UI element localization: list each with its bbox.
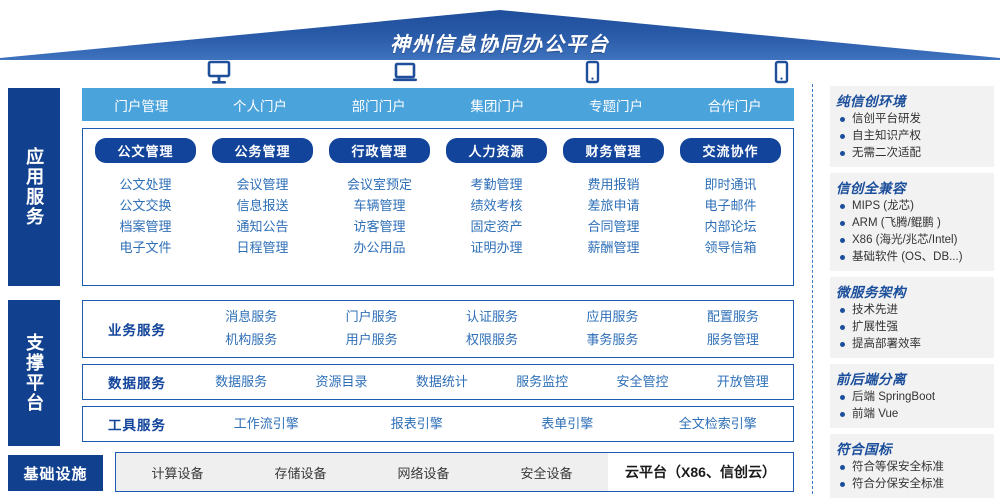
app-service-item-2-2[interactable]: 访客管理 <box>353 220 405 233</box>
support-item-0-1-0[interactable]: 门户服务 <box>311 306 431 329</box>
app-service-title-5[interactable]: 交流协作 <box>680 138 781 163</box>
feature-item-2-0: 技术先进 <box>836 302 988 319</box>
bullet-icon <box>840 238 845 243</box>
feature-item-2-1: 扩展性强 <box>836 319 988 336</box>
feature-section-0: 纯信创环境信创平台研发自主知识产权无需二次适配 <box>830 86 994 167</box>
portal-item-0[interactable]: 门户管理 <box>82 95 201 115</box>
support-row-items-2: 工作流引擎报表引擎表单引擎全文检索引擎 <box>191 413 793 436</box>
feature-item-1-2: X86 (海光/兆芯/Intel) <box>836 232 988 249</box>
architecture-diagram: 神州信息协同办公平台 <box>0 0 1000 500</box>
app-service-title-1[interactable]: 公务管理 <box>212 138 313 163</box>
phone-icon-2 <box>766 60 796 88</box>
app-service-item-1-3[interactable]: 日程管理 <box>236 241 288 254</box>
feature-item-label-1-0: MIPS (龙芯) <box>852 198 914 215</box>
bullet-icon <box>840 482 845 487</box>
app-service-item-2-0[interactable]: 会议室预定 <box>347 178 412 191</box>
feature-title-3: 前后端分离 <box>836 368 988 388</box>
support-cell-2-2: 表单引擎 <box>492 413 643 436</box>
app-service-column-3: 人力资源考勤管理绩效考核固定资产证明办理 <box>438 138 555 279</box>
feature-item-label-3-0: 后端 SpringBoot <box>852 389 935 406</box>
support-item-1-4-0[interactable]: 安全管控 <box>592 371 692 394</box>
bullet-icon <box>840 151 845 156</box>
portal-bar: 门户管理个人门户部门门户集团门户专题门户合作门户 <box>82 88 794 121</box>
bullet-icon <box>840 134 845 139</box>
rail-support-platform-label: 支撑平台 <box>22 333 46 413</box>
feature-section-4: 符合国标符合等保安全标准符合分保安全标准 <box>830 434 994 498</box>
support-cell-1-3: 服务监控 <box>492 371 592 394</box>
support-cell-1-4: 安全管控 <box>592 371 692 394</box>
feature-title-4: 符合国标 <box>836 438 988 458</box>
section-divider <box>812 84 813 494</box>
support-row-tools: 工具服务工作流引擎报表引擎表单引擎全文检索引擎 <box>82 406 794 442</box>
app-service-item-0-3[interactable]: 电子文件 <box>119 241 171 254</box>
feature-item-4-0: 符合等保安全标准 <box>836 459 988 476</box>
bullet-icon <box>840 465 845 470</box>
app-service-item-2-1[interactable]: 车辆管理 <box>353 199 405 212</box>
feature-item-2-2: 提高部署效率 <box>836 336 988 353</box>
feature-item-1-3: 基础软件 (OS、DB...) <box>836 249 988 266</box>
feature-item-label-0-1: 自主知识产权 <box>852 128 921 145</box>
app-service-item-3-1[interactable]: 绩效考核 <box>470 199 522 212</box>
portal-item-3[interactable]: 集团门户 <box>438 95 557 115</box>
app-service-item-0-1[interactable]: 公文交换 <box>119 199 171 212</box>
feature-item-label-1-1: ARM (飞腾/鲲鹏 ) <box>852 215 941 232</box>
feature-section-2: 微服务架构技术先进扩展性强提高部署效率 <box>830 277 994 358</box>
support-item-0-0-0[interactable]: 消息服务 <box>191 306 311 329</box>
app-service-column-5: 交流协作即时通讯电子邮件内部论坛领导信箱 <box>672 138 789 279</box>
feature-section-3: 前后端分离后端 SpringBoot前端 Vue <box>830 364 994 428</box>
app-service-title-0[interactable]: 公文管理 <box>95 138 196 163</box>
support-item-1-3-0[interactable]: 服务监控 <box>492 371 592 394</box>
app-service-title-2[interactable]: 行政管理 <box>329 138 430 163</box>
support-item-0-2-0[interactable]: 认证服务 <box>432 306 552 329</box>
support-cell-1-1: 资源目录 <box>291 371 391 394</box>
support-item-2-1-0[interactable]: 报表引擎 <box>342 413 493 436</box>
feature-item-1-1: ARM (飞腾/鲲鹏 ) <box>836 215 988 232</box>
bullet-icon <box>840 117 845 122</box>
support-item-0-4-0[interactable]: 配置服务 <box>673 306 793 329</box>
feature-item-label-2-1: 扩展性强 <box>852 319 898 336</box>
feature-title-0: 纯信创环境 <box>836 90 988 110</box>
application-services-box: 公文管理公文处理公文交换档案管理电子文件公务管理会议管理信息报送通知公告日程管理… <box>82 128 794 286</box>
rail-application-services-label: 应用服务 <box>22 147 46 227</box>
support-item-1-1-0[interactable]: 资源目录 <box>291 371 391 394</box>
support-item-0-4-1[interactable]: 服务管理 <box>673 329 793 352</box>
support-cell-0-4: 配置服务服务管理 <box>673 306 793 352</box>
support-cell-0-2: 认证服务权限服务 <box>432 306 552 352</box>
app-service-item-5-0[interactable]: 即时通讯 <box>704 178 756 191</box>
bullet-icon <box>840 308 845 313</box>
app-service-item-4-3[interactable]: 薪酬管理 <box>587 241 639 254</box>
portal-item-2[interactable]: 部门门户 <box>319 95 438 115</box>
support-item-0-3-0[interactable]: 应用服务 <box>552 306 672 329</box>
support-item-1-0-0[interactable]: 数据服务 <box>191 371 291 394</box>
portal-item-1[interactable]: 个人门户 <box>201 95 320 115</box>
support-cell-0-3: 应用服务事务服务 <box>552 306 672 352</box>
feature-item-0-1: 自主知识产权 <box>836 128 988 145</box>
app-service-item-4-1[interactable]: 差旅申请 <box>587 199 639 212</box>
feature-item-label-2-2: 提高部署效率 <box>852 336 921 353</box>
platform-title: 神州信息协同办公平台 <box>0 28 1000 57</box>
support-cell-1-0: 数据服务 <box>191 371 291 394</box>
feature-item-label-0-0: 信创平台研发 <box>852 111 921 128</box>
app-service-item-1-1[interactable]: 信息报送 <box>236 199 288 212</box>
app-service-item-3-2[interactable]: 固定资产 <box>470 220 522 233</box>
feature-panel: 纯信创环境信创平台研发自主知识产权无需二次适配信创全兼容MIPS (龙芯)ARM… <box>830 86 994 500</box>
support-cell-1-2: 数据统计 <box>392 371 492 394</box>
app-service-column-4: 财务管理费用报销差旅申请合同管理薪酬管理 <box>555 138 672 279</box>
title-banner: 神州信息协同办公平台 <box>0 8 1000 60</box>
support-item-0-3-1[interactable]: 事务服务 <box>552 329 672 352</box>
rail-support-platform: 支撑平台 <box>8 300 60 446</box>
support-cell-2-3: 全文检索引擎 <box>643 413 794 436</box>
app-service-item-5-2[interactable]: 内部论坛 <box>704 220 756 233</box>
device-icon-row <box>0 60 1000 88</box>
feature-title-1: 信创全兼容 <box>836 177 988 197</box>
app-service-title-4[interactable]: 财务管理 <box>563 138 664 163</box>
infrastructure-item-0[interactable]: 计算设备 <box>116 463 239 482</box>
support-row-business: 业务服务消息服务机构服务门户服务用户服务认证服务权限服务应用服务事务服务配置服务… <box>82 300 794 358</box>
support-item-0-1-1[interactable]: 用户服务 <box>311 329 431 352</box>
app-service-item-4-0[interactable]: 费用报销 <box>587 178 639 191</box>
support-row-data: 数据服务数据服务资源目录数据统计服务监控安全管控开放管理 <box>82 364 794 400</box>
support-row-label-0: 业务服务 <box>83 319 191 339</box>
infrastructure-item-3[interactable]: 安全设备 <box>485 463 608 482</box>
bullet-icon <box>840 325 845 330</box>
support-cell-2-1: 报表引擎 <box>342 413 493 436</box>
rail-application-services: 应用服务 <box>8 88 60 286</box>
infrastructure-item-2[interactable]: 网络设备 <box>362 463 485 482</box>
feature-item-0-0: 信创平台研发 <box>836 111 988 128</box>
support-row-items-1: 数据服务资源目录数据统计服务监控安全管控开放管理 <box>191 371 793 394</box>
infrastructure-device-group: 计算设备存储设备网络设备安全设备 <box>116 453 608 491</box>
app-service-column-2: 行政管理会议室预定车辆管理访客管理办公用品 <box>321 138 438 279</box>
support-cell-2-0: 工作流引擎 <box>191 413 342 436</box>
phone-icon <box>577 60 607 88</box>
bullet-icon <box>840 342 845 347</box>
feature-item-label-3-1: 前端 Vue <box>852 406 898 423</box>
bullet-icon <box>840 221 845 226</box>
app-service-item-1-0[interactable]: 会议管理 <box>236 178 288 191</box>
support-item-0-2-1[interactable]: 权限服务 <box>432 329 552 352</box>
app-service-column-0: 公文管理公文处理公文交换档案管理电子文件 <box>87 138 204 279</box>
feature-item-label-0-2: 无需二次适配 <box>852 145 921 162</box>
support-row-label-2: 工具服务 <box>83 414 191 434</box>
feature-section-1: 信创全兼容MIPS (龙芯)ARM (飞腾/鲲鹏 )X86 (海光/兆芯/Int… <box>830 173 994 271</box>
bullet-icon <box>840 204 845 209</box>
support-cell-1-5: 开放管理 <box>693 371 793 394</box>
support-item-1-5-0[interactable]: 开放管理 <box>693 371 793 394</box>
portal-item-4[interactable]: 专题门户 <box>557 95 676 115</box>
laptop-icon <box>390 60 420 88</box>
support-cell-0-1: 门户服务用户服务 <box>311 306 431 352</box>
portal-item-5[interactable]: 合作门户 <box>675 95 794 115</box>
app-service-item-5-3[interactable]: 领导信箱 <box>704 241 756 254</box>
feature-item-label-4-1: 符合分保安全标准 <box>852 476 944 493</box>
support-item-0-0-1[interactable]: 机构服务 <box>191 329 311 352</box>
support-item-2-0-0[interactable]: 工作流引擎 <box>191 413 342 436</box>
support-row-label-1: 数据服务 <box>83 372 191 392</box>
app-service-item-0-0[interactable]: 公文处理 <box>119 178 171 191</box>
rail-infrastructure: 基础设施 <box>8 455 103 491</box>
bullet-icon <box>840 395 845 400</box>
feature-item-3-0: 后端 SpringBoot <box>836 389 988 406</box>
feature-item-label-4-0: 符合等保安全标准 <box>852 459 944 476</box>
infrastructure-cloud-platform[interactable]: 云平台（X86、信创云） <box>608 462 793 482</box>
support-item-2-3-0[interactable]: 全文检索引擎 <box>643 413 794 436</box>
app-service-title-3[interactable]: 人力资源 <box>446 138 547 163</box>
rail-infrastructure-label: 基础设施 <box>23 463 87 484</box>
support-item-1-2-0[interactable]: 数据统计 <box>392 371 492 394</box>
bullet-icon <box>840 255 845 260</box>
app-service-item-3-0[interactable]: 考勤管理 <box>470 178 522 191</box>
app-service-item-3-3[interactable]: 证明办理 <box>470 241 522 254</box>
infrastructure-item-1[interactable]: 存储设备 <box>239 463 362 482</box>
app-service-item-5-1[interactable]: 电子邮件 <box>704 199 756 212</box>
app-service-item-0-2[interactable]: 档案管理 <box>119 220 171 233</box>
app-service-item-2-3[interactable]: 办公用品 <box>353 241 405 254</box>
app-service-item-4-2[interactable]: 合同管理 <box>587 220 639 233</box>
feature-item-1-0: MIPS (龙芯) <box>836 198 988 215</box>
feature-item-3-1: 前端 Vue <box>836 406 988 423</box>
infrastructure-box: 计算设备存储设备网络设备安全设备云平台（X86、信创云） <box>115 452 794 492</box>
feature-item-label-1-2: X86 (海光/兆芯/Intel) <box>852 232 957 249</box>
bullet-icon <box>840 412 845 417</box>
support-row-items-0: 消息服务机构服务门户服务用户服务认证服务权限服务应用服务事务服务配置服务服务管理 <box>191 306 793 352</box>
feature-item-0-2: 无需二次适配 <box>836 145 988 162</box>
support-cell-0-0: 消息服务机构服务 <box>191 306 311 352</box>
desktop-monitor-icon <box>204 60 234 88</box>
feature-item-label-1-3: 基础软件 (OS、DB...) <box>852 249 963 266</box>
feature-title-2: 微服务架构 <box>836 281 988 301</box>
app-service-item-1-2[interactable]: 通知公告 <box>236 220 288 233</box>
feature-item-label-2-0: 技术先进 <box>852 302 898 319</box>
app-service-column-1: 公务管理会议管理信息报送通知公告日程管理 <box>204 138 321 279</box>
feature-item-4-1: 符合分保安全标准 <box>836 476 988 493</box>
support-item-2-2-0[interactable]: 表单引擎 <box>492 413 643 436</box>
